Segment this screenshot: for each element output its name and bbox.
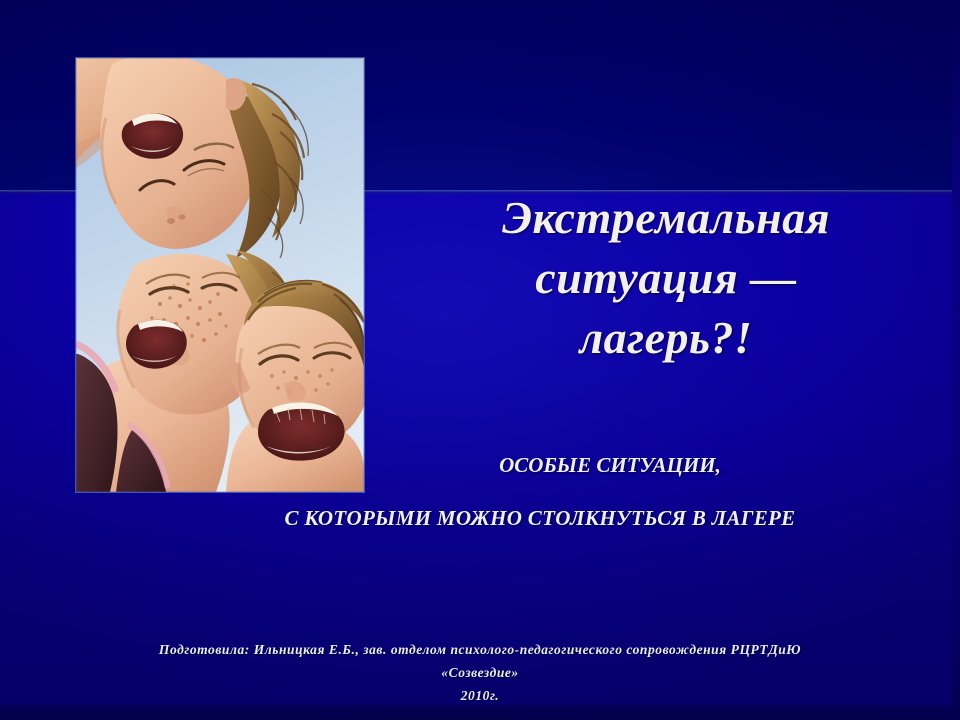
title-line-2: ситуация — (396, 248, 936, 308)
credit-line-author: Подготовила: Ильницкая Е.Б., зав. отдело… (20, 638, 940, 661)
author-credit: Подготовила: Ильницкая Е.Б., зав. отдело… (20, 638, 940, 708)
background-right-edge (952, 0, 960, 720)
presentation-slide: Экстремальная ситуация — лагерь?! ОСОБЫЕ… (0, 0, 960, 720)
credit-line-organization: «Созвездие» (20, 661, 940, 684)
title-line-1: Экстремальная (396, 188, 936, 248)
subtitle-line-2: С КОТОРЫМИ МОЖНО СТОЛКНУТЬСЯ В ЛАГЕРЕ (150, 505, 930, 532)
subtitle-line-1: ОСОБЫЕ СИТУАЦИИ, (150, 452, 930, 479)
children-photo-illustration (76, 58, 364, 492)
slide-subtitle: ОСОБЫЕ СИТУАЦИИ, С КОТОРЫМИ МОЖНО СТОЛКН… (150, 452, 930, 533)
children-photo (76, 58, 364, 492)
title-line-3: лагерь?! (396, 308, 936, 368)
credit-line-year: 2010г. (20, 684, 940, 707)
slide-title: Экстремальная ситуация — лагерь?! (396, 188, 936, 367)
